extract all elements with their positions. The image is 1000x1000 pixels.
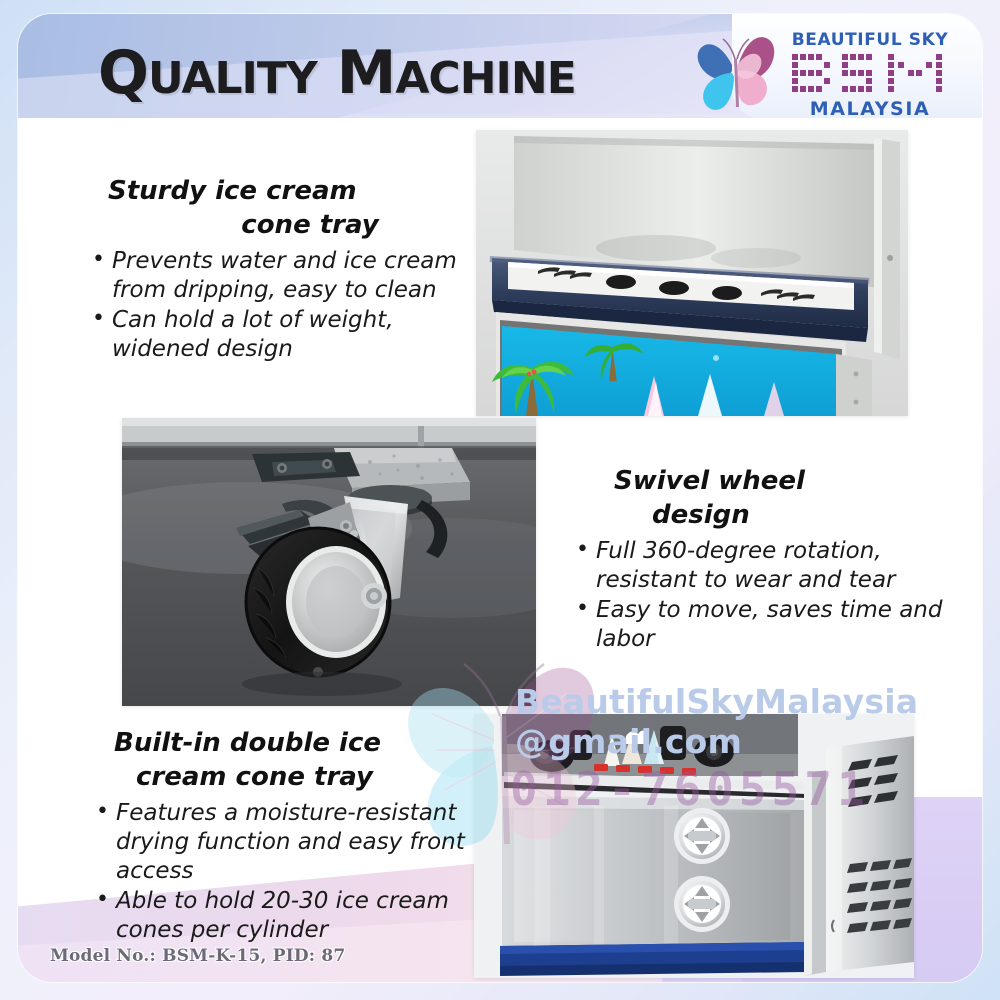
feature-3-bullet-list: Features a moisture-resistant drying fun… <box>94 799 504 945</box>
logo-text-block: BEAUTIFUL SKY <box>790 30 950 120</box>
feature-3-bullet-1: Features a moisture-resistant drying fun… <box>94 799 504 886</box>
butterfly-icon <box>692 27 784 123</box>
photo-double-cone-tray-graphic <box>474 714 914 978</box>
feature-1-bullet-list: Prevents water and ice cream from drippi… <box>90 247 490 364</box>
photo-swivel-wheel <box>122 418 536 706</box>
feature-1-heading-line1: Sturdy ice cream <box>90 174 490 208</box>
feature-1-heading: Sturdy ice cream cone tray <box>90 174 490 243</box>
feature-1-bullet-1: Prevents water and ice cream from drippi… <box>90 247 490 305</box>
logo-bottom-text: MALAYSIA <box>810 98 931 120</box>
feature-3-heading-line2: cream cone tray <box>94 760 504 794</box>
feature-2-heading: Swivel wheel design <box>574 464 982 533</box>
photo-cone-tray-graphic <box>476 130 908 416</box>
feature-1-bullet-2: Can hold a lot of weight, widened design <box>90 306 490 364</box>
page-title-uality: UALITY <box>148 53 317 104</box>
feature-sturdy-cone-tray: Sturdy ice cream cone tray Prevents wate… <box>90 174 490 365</box>
infographic-card: QUALITY MACHINE BEAUTIFUL SKY <box>18 14 982 982</box>
feature-3-bullet-2: Able to hold 20-30 ice cream cones per c… <box>94 887 504 945</box>
feature-2-heading-line1: Swivel wheel <box>574 464 982 498</box>
feature-2-bullet-2: Easy to move, saves time and labor <box>574 596 982 654</box>
bsm-pixel-wordmark-icon <box>790 50 950 98</box>
page-title: QUALITY MACHINE <box>98 38 576 108</box>
model-number-label: Model No.: BSM-K-15, PID: 87 <box>50 946 345 966</box>
feature-3-heading: Built-in double ice cream cone tray <box>94 726 504 795</box>
photo-cone-tray <box>476 130 908 416</box>
brand-logo: BEAUTIFUL SKY <box>692 22 960 128</box>
feature-double-cone-tray: Built-in double ice cream cone tray Feat… <box>94 726 504 945</box>
feature-2-heading-line2: design <box>574 498 982 532</box>
page-title-q: Q <box>98 38 148 108</box>
feature-1-heading-line2: cone tray <box>90 208 490 242</box>
feature-2-bullet-1: Full 360-degree rotation, resistant to w… <box>574 537 982 595</box>
logo-top-text: BEAUTIFUL SKY <box>792 30 949 50</box>
photo-swivel-wheel-graphic <box>122 418 536 706</box>
feature-2-bullet-list: Full 360-degree rotation, resistant to w… <box>574 537 982 654</box>
feature-swivel-wheel: Swivel wheel design Full 360-degree rota… <box>574 464 982 655</box>
page-title-achine: ACHINE <box>395 53 575 104</box>
photo-double-cone-tray <box>474 714 914 978</box>
feature-3-heading-line1: Built-in double ice <box>94 726 504 760</box>
page-title-m: M <box>337 38 396 108</box>
